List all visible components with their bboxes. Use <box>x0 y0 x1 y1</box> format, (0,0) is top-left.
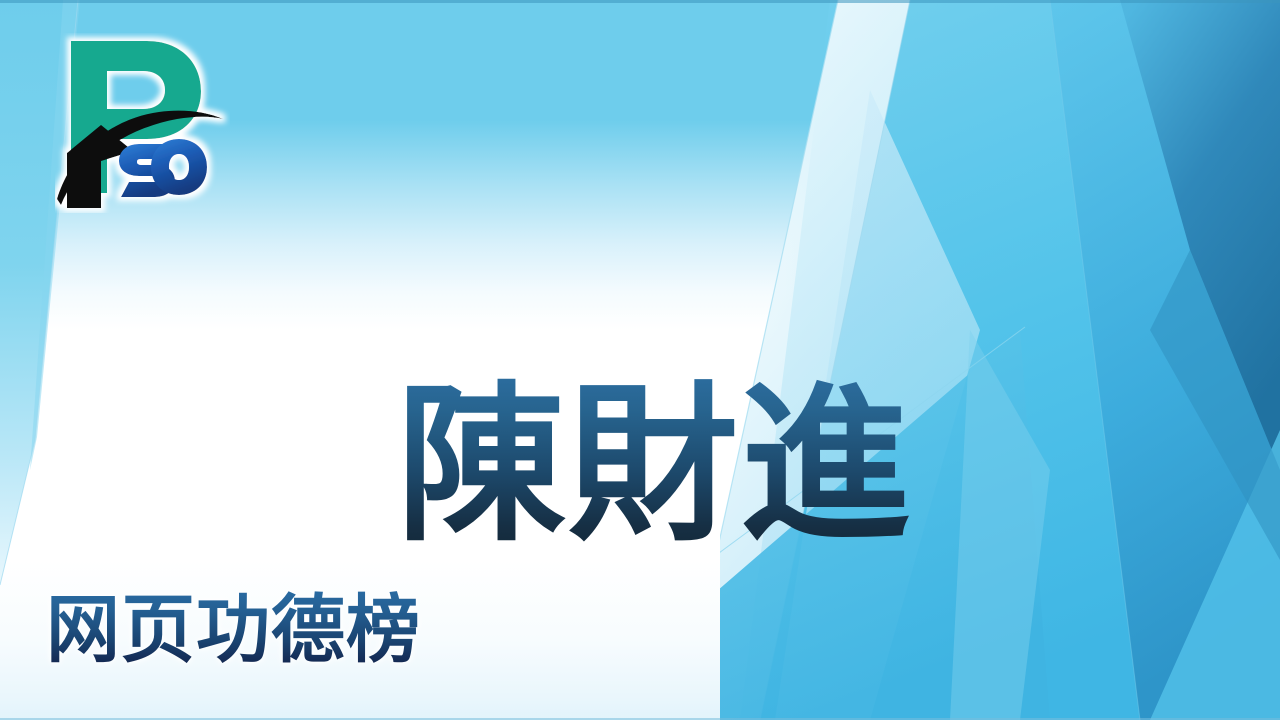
pso-logo <box>55 33 230 213</box>
logo-letter-o <box>151 139 207 195</box>
presentation-slide: 陳財進 网页功德榜 <box>0 0 1280 720</box>
background-facet-right <box>720 0 1280 720</box>
page-title: 陳財進 <box>0 366 1280 566</box>
slide-top-edge-line <box>0 0 1280 3</box>
footer-heading: 网页功德榜 <box>46 582 421 678</box>
